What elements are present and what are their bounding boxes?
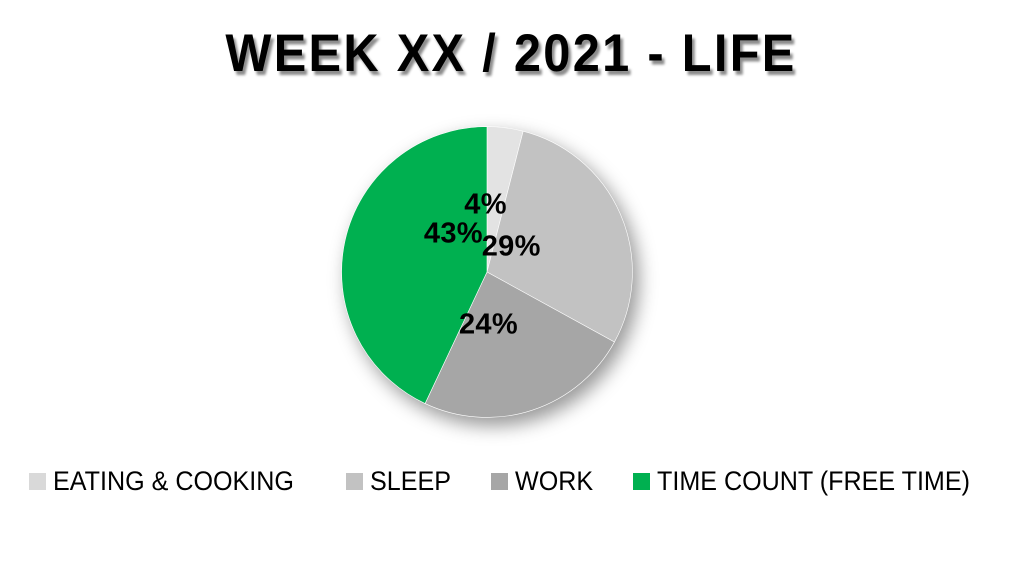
legend-item[interactable]: SLEEP: [346, 466, 457, 496]
legend-swatch-icon: [346, 473, 363, 490]
pie-slice-value-label: 24%: [459, 310, 518, 339]
page-title: WEEK XX / 2021 - LIFE: [41, 22, 981, 86]
legend-item[interactable]: TIME COUNT (FREE TIME): [633, 466, 994, 496]
legend-item[interactable]: EATING & COOKING: [29, 466, 312, 496]
legend-item-label: TIME COUNT (FREE TIME): [657, 466, 970, 496]
pie-slice-value-label: 29%: [482, 233, 541, 262]
legend-swatch-icon: [633, 473, 650, 490]
legend-item-label: WORK: [515, 466, 593, 496]
pie-slice-value-label: 43%: [424, 220, 483, 249]
pie-chart: 4%29%24%43%: [341, 126, 633, 418]
legend-item-label: SLEEP: [370, 466, 451, 496]
pie-slice-value-label: 4%: [464, 190, 507, 219]
chart-slide: WEEK XX / 2021 - LIFE 4%29%24%43% EATING…: [0, 0, 1022, 576]
legend-item[interactable]: WORK: [491, 466, 599, 496]
pie-slices: [341, 126, 633, 418]
chart-legend: EATING & COOKINGSLEEPWORKTIME COUNT (FRE…: [0, 466, 1022, 496]
legend-swatch-icon: [29, 473, 46, 490]
legend-item-label: EATING & COOKING: [53, 466, 294, 496]
legend-swatch-icon: [491, 473, 508, 490]
